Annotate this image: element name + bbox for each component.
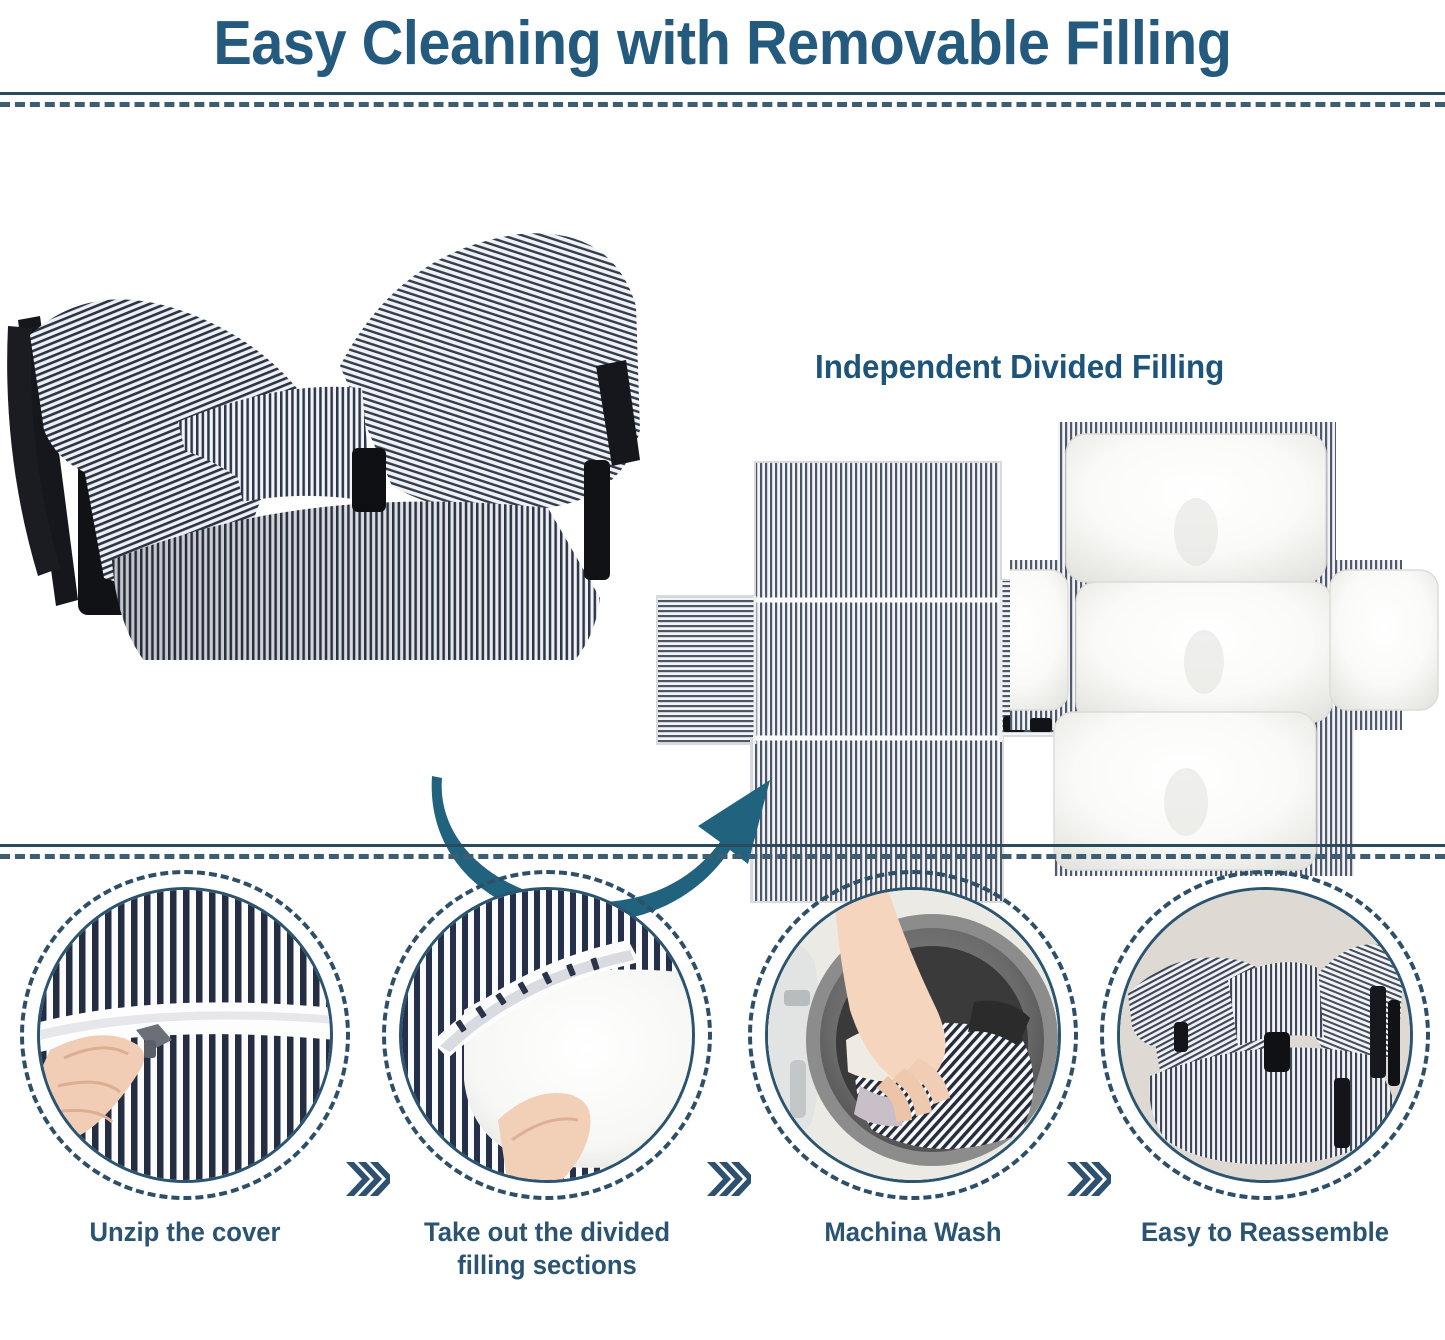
step-2-caption: Take out the divided filling sections (390, 1216, 704, 1282)
car-seat-illustration (0, 130, 650, 660)
hand-unzipping-striped-cover (40, 890, 330, 1180)
divider-dashed-line-2 (0, 854, 1445, 859)
step-1: Unzip the cover (20, 870, 350, 1249)
divider-dashed-line (0, 102, 1445, 107)
hand-loading-washing-machine (768, 890, 1058, 1180)
step-3-circle (748, 870, 1078, 1200)
step-3: Machina Wash (748, 870, 1078, 1249)
step-4-caption: Easy to Reassemble (1108, 1216, 1422, 1249)
step-3-photo-frame (765, 887, 1061, 1183)
step-2-photo-frame (399, 887, 695, 1183)
top-illustration-section: Independent Divided Filling (0, 110, 1445, 840)
step-2-caption-line1: Take out the divided (390, 1216, 704, 1249)
step-1-caption: Unzip the cover (28, 1216, 342, 1249)
divided-filling-pads (1010, 410, 1445, 885)
filling-pads-illustration (1010, 410, 1445, 885)
chevron-right-icon-2 (705, 1158, 751, 1200)
step-2-caption-line2: filling sections (390, 1249, 704, 1282)
header-banner: Easy Cleaning with Removable Filling (0, 0, 1445, 88)
step-3-caption: Machina Wash (756, 1216, 1070, 1249)
reassembled-pet-car-seat (1120, 890, 1410, 1180)
cleaning-steps-section: Unzip the cover (0, 862, 1445, 1340)
divider-top (0, 88, 1445, 110)
step-4: Easy to Reassemble (1100, 870, 1430, 1249)
divider-bottom (0, 840, 1445, 862)
step-4-circle (1100, 870, 1430, 1200)
page-title: Easy Cleaning with Removable Filling (213, 13, 1231, 75)
divider-solid-line (0, 92, 1445, 95)
hand-removing-white-filling-pad (402, 890, 692, 1180)
section-label-independent-divided-filling: Independent Divided Filling (815, 348, 1224, 386)
step-1-circle (20, 870, 350, 1200)
step-1-photo-frame (37, 887, 333, 1183)
divider-solid-line-2 (0, 844, 1445, 847)
step-2-circle (382, 870, 712, 1200)
step-2: Take out the divided filling sections (382, 870, 712, 1282)
assembled-pet-car-seat (0, 130, 650, 660)
step-4-photo-frame (1117, 887, 1413, 1183)
